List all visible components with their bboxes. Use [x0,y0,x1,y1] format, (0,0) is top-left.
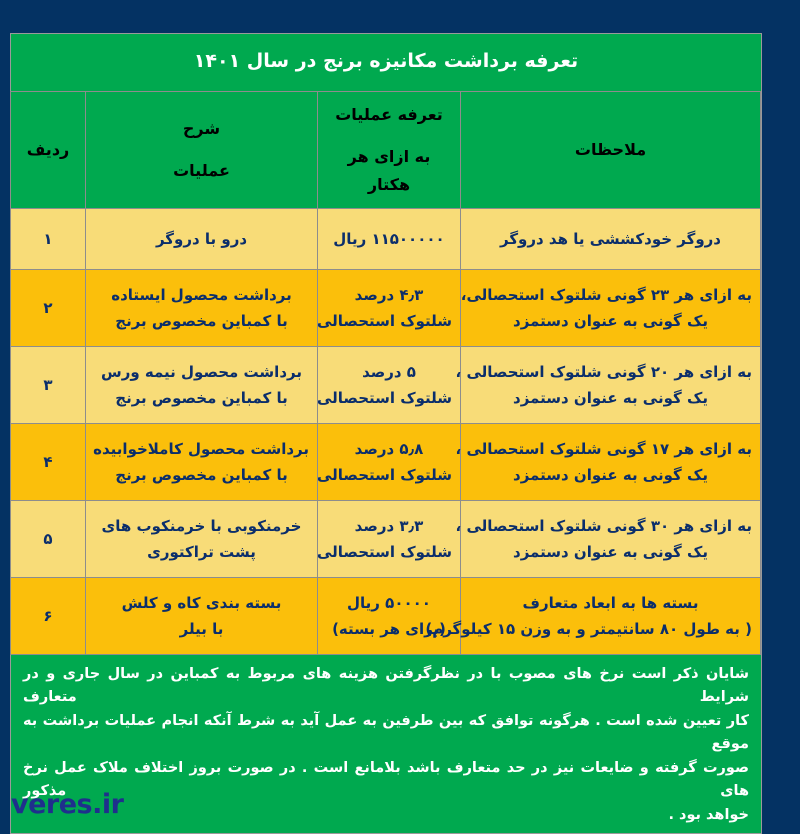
cell-tarefe: ۴٫۳ درصد شلتوک استحصالی [318,269,461,346]
table-body: دروگر خودکششی یا هد دروگر ۱۱۵۰۰۰۰۰ ریال … [11,208,761,654]
column-header-radif: ردیف [11,91,86,208]
radif-label: ردیف [17,136,79,164]
cell-sharh: برداشت محصول کاملاخوابیده با کمباین مخصو… [86,423,318,500]
cell-radif: ۲ [11,269,86,346]
tarefe-label-line2: به ازای هر هکتار [324,143,454,199]
sharh-line: برداشت محصول کاملاخوابیده [94,436,309,462]
sharh-line: خرمنکوبی با خرمنکوب های [94,513,309,539]
sharh-line: پشت تراکتوری [94,539,309,565]
tarefe-line: ۵۰۰۰۰ ریال [326,590,452,616]
tarefe-line: ۴٫۳ درصد [326,282,452,308]
column-header-molahezat: ملاحظات [461,91,761,208]
sharh-line: بسته بندی کاه و کلش [94,590,309,616]
tarefe-line: شلتوک استحصالی [326,462,452,488]
tarefe-line: شلتوک استحصالی [326,385,452,411]
watermark-veres-ir: veres.ir [11,783,761,827]
tarefe-line: ۵٫۸ درصد [326,436,452,462]
molahezat-line: ( به طول ۸۰ سانتیمتر و به وزن ۱۵ کیلوگرم… [469,616,752,642]
molahezat-line: یک گونی به عنوان دستمزد [469,308,752,334]
tarefe-label-line1: تعرفه عملیات [324,101,454,129]
table-header: ملاحظات تعرفه عملیات به ازای هر هکتار شر… [11,91,761,208]
cell-sharh: بسته بندی کاه و کلش با بیلر [86,577,318,654]
sharh-line: با کمباین مخصوص برنج [94,308,309,334]
tariff-table: ملاحظات تعرفه عملیات به ازای هر هکتار شر… [10,91,761,655]
cell-tarefe: ۵ درصد شلتوک استحصالی [318,346,461,423]
cell-sharh: خرمنکوبی با خرمنکوب های پشت تراکتوری [86,500,318,577]
sharh-label-line2: عملیات [92,157,311,185]
table-row: به ازای هر ۲۰ گونی شلتوک استحصالی ، یک گ… [11,346,761,423]
tarefe-line: ۱۱۵۰۰۰۰۰ ریال [326,226,452,252]
cell-radif: ۶ [11,577,86,654]
tarefe-line: (برای هر بسته) [326,616,452,642]
table-row: بسته ها به ابعاد متعارف ( به طول ۸۰ سانت… [11,577,761,654]
cell-radif: ۵ [11,500,86,577]
cell-sharh: درو با دروگر [86,208,318,269]
cell-molahezat: به ازای هر ۱۷ گونی شلتوک استحصالی ، یک گ… [461,423,761,500]
cell-radif: ۳ [11,346,86,423]
molahezat-line: یک گونی به عنوان دستمزد [469,385,752,411]
cell-molahezat: به ازای هر ۲۰ گونی شلتوک استحصالی ، یک گ… [461,346,761,423]
cell-tarefe: ۵٫۸ درصد شلتوک استحصالی [318,423,461,500]
footnote: شایان ذکر است نرخ های مصوب با در نظرگرفت… [11,655,761,833]
sharh-label-gap [92,143,311,157]
cell-sharh: برداشت محصول نیمه ورس با کمباین مخصوص بر… [86,346,318,423]
cell-molahezat: دروگر خودکششی یا هد دروگر [461,208,761,269]
page-title: تعرفه برداشت مکانیزه برنج در سال ۱۴۰۱ [11,34,761,91]
cell-tarefe: ۳٫۳ درصد شلتوک استحصالی [318,500,461,577]
molahezat-line: به ازای هر ۳۰ گونی شلتوک استحصالی ، [469,513,752,539]
sharh-line: برداشت محصول ایستاده [94,282,309,308]
cell-sharh: برداشت محصول ایستاده با کمباین مخصوص برن… [86,269,318,346]
cell-molahezat: به ازای هر ۲۳ گونی شلتوک استحصالی، یک گو… [461,269,761,346]
tariff-poster: تعرفه برداشت مکانیزه برنج در سال ۱۴۰۱ مل… [10,33,762,834]
sharh-line: با کمباین مخصوص برنج [94,462,309,488]
tarefe-line: ۳٫۳ درصد [326,513,452,539]
molahezat-line: یک گونی به عنوان دستمزد [469,539,752,565]
tarefe-label-gap [324,129,454,143]
footnote-line: شایان ذکر است نرخ های مصوب با در نظرگرفت… [23,663,749,710]
molahezat-label: ملاحظات [467,136,754,164]
table-row: به ازای هر ۳۰ گونی شلتوک استحصالی ، یک گ… [11,500,761,577]
sharh-label-line1: شرح [92,115,311,143]
molahezat-line: بسته ها به ابعاد متعارف [469,590,752,616]
sharh-line: با کمباین مخصوص برنج [94,385,309,411]
molahezat-line: به ازای هر ۱۷ گونی شلتوک استحصالی ، [469,436,752,462]
sharh-line: برداشت محصول نیمه ورس [94,359,309,385]
sharh-line: با بیلر [94,616,309,642]
sharh-line: درو با دروگر [94,226,309,252]
table-row: به ازای هر ۲۳ گونی شلتوک استحصالی، یک گو… [11,269,761,346]
cell-molahezat: بسته ها به ابعاد متعارف ( به طول ۸۰ سانت… [461,577,761,654]
table-row: به ازای هر ۱۷ گونی شلتوک استحصالی ، یک گ… [11,423,761,500]
molahezat-line: به ازای هر ۲۰ گونی شلتوک استحصالی ، [469,359,752,385]
column-header-sharh: شرح عملیات [86,91,318,208]
cell-radif: ۴ [11,423,86,500]
tarefe-line: ۵ درصد [326,359,452,385]
tarefe-line: شلتوک استحصالی [326,539,452,565]
molahezat-line: به ازای هر ۲۳ گونی شلتوک استحصالی، [469,282,752,308]
molahezat-line: دروگر خودکششی یا هد دروگر [469,226,752,252]
cell-tarefe: ۱۱۵۰۰۰۰۰ ریال [318,208,461,269]
header-row: ملاحظات تعرفه عملیات به ازای هر هکتار شر… [11,91,761,208]
table-row: دروگر خودکششی یا هد دروگر ۱۱۵۰۰۰۰۰ ریال … [11,208,761,269]
cell-molahezat: به ازای هر ۳۰ گونی شلتوک استحصالی ، یک گ… [461,500,761,577]
column-header-tarefe: تعرفه عملیات به ازای هر هکتار [318,91,461,208]
molahezat-line: یک گونی به عنوان دستمزد [469,462,752,488]
tarefe-line: شلتوک استحصالی [326,308,452,334]
cell-tarefe: ۵۰۰۰۰ ریال (برای هر بسته) [318,577,461,654]
cell-radif: ۱ [11,208,86,269]
